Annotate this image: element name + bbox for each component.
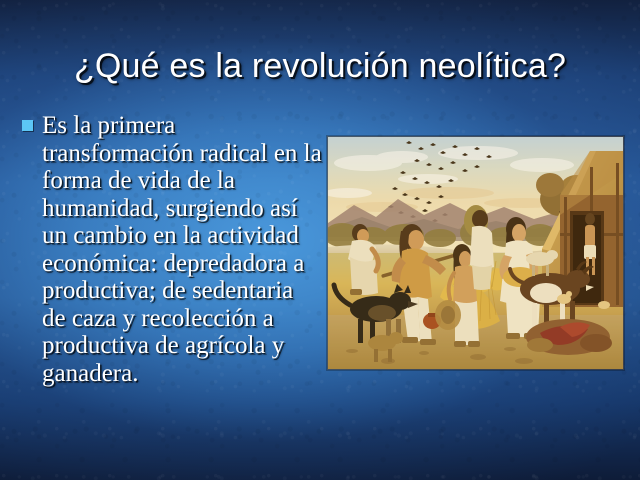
bullet-square-icon [22, 120, 33, 131]
bullet-item-text: Es la primera transformación radical en … [42, 112, 322, 387]
bullet-list: Es la primera transformación radical en … [22, 112, 322, 387]
list-item: Es la primera transformación radical en … [22, 112, 322, 387]
page-title: ¿Qué es la revolución neolítica? [0, 47, 640, 86]
neolithic-scene-graphic [328, 137, 623, 369]
illustration-image [327, 136, 624, 370]
presentation-slide: ¿Qué es la revolución neolítica? Es la p… [0, 0, 640, 480]
